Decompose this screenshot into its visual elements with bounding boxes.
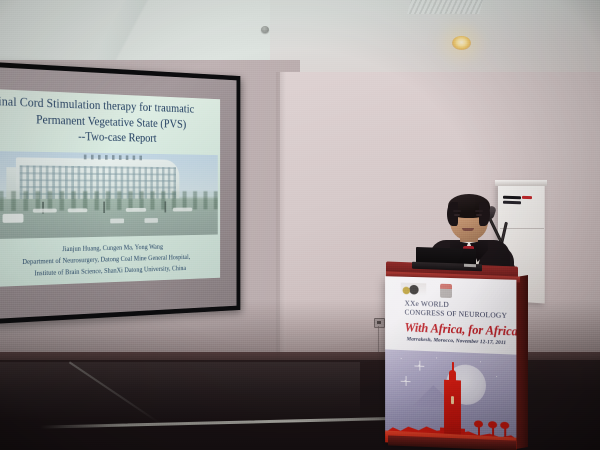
palm-crown-icon xyxy=(500,422,509,430)
star-icon xyxy=(436,357,437,358)
minaret-window xyxy=(451,396,454,404)
star-icon xyxy=(401,358,402,359)
photo-van xyxy=(3,214,24,223)
slide-authors-block: Jianjun Huang, Cungen Ma, Yong Wang Depa… xyxy=(0,240,220,282)
star-icon xyxy=(496,376,497,377)
speaker-mouth xyxy=(462,228,474,231)
podium-artwork xyxy=(385,349,516,449)
photo-canopy xyxy=(33,209,57,213)
speaker-eyebrow-left xyxy=(453,210,461,212)
star-icon xyxy=(405,380,406,381)
marker-icon xyxy=(522,196,532,199)
photo-car xyxy=(110,218,124,223)
photo-car xyxy=(144,218,157,223)
sponsor-logo-icon xyxy=(440,284,452,298)
congress-line-2: CONGRESS OF NEUROLOGY xyxy=(405,308,508,320)
podium-side xyxy=(516,275,528,449)
floor-highlight xyxy=(0,362,360,422)
palm-crown-icon xyxy=(474,420,483,428)
photo-roof-sign xyxy=(84,155,145,161)
air-vent-icon xyxy=(407,0,485,14)
podium: XXe WORLD CONGRESS OF NEUROLOGY With Afr… xyxy=(378,250,548,450)
photo-canopy xyxy=(126,208,146,212)
slide-title: inal Cord Stimulation therapy for trauma… xyxy=(0,93,223,147)
photo-lamp-post xyxy=(103,202,104,213)
downlight-icon xyxy=(452,36,471,50)
projection-screen: inal Cord Stimulation therapy for trauma… xyxy=(0,62,240,324)
congress-name: XXe WORLD CONGRESS OF NEUROLOGY xyxy=(405,299,517,321)
laptop-logo-icon xyxy=(464,264,476,267)
speaker-eye-left xyxy=(454,214,460,216)
photo-lamp-post xyxy=(165,201,166,212)
star-icon xyxy=(480,361,481,362)
speaker-eye-right xyxy=(476,214,482,216)
slide-photo-hospital xyxy=(0,151,218,239)
minaret-spire xyxy=(451,362,453,372)
speaker-eyebrow-right xyxy=(475,210,483,212)
star-icon xyxy=(418,365,420,367)
palm-crown-icon xyxy=(488,421,497,429)
podium-sign-panel: XXe WORLD CONGRESS OF NEUROLOGY With Afr… xyxy=(385,276,516,450)
photo-canopy xyxy=(173,208,193,212)
presentation-photo: inal Cord Stimulation therapy for trauma… xyxy=(0,0,600,450)
projection-surface: inal Cord Stimulation therapy for trauma… xyxy=(0,67,236,319)
presentation-slide: inal Cord Stimulation therapy for trauma… xyxy=(0,89,220,287)
sprinkler-icon xyxy=(261,26,269,33)
photo-canopy xyxy=(68,208,88,212)
congress-logo-icon xyxy=(401,283,427,297)
flip-chart-rail xyxy=(495,180,547,186)
